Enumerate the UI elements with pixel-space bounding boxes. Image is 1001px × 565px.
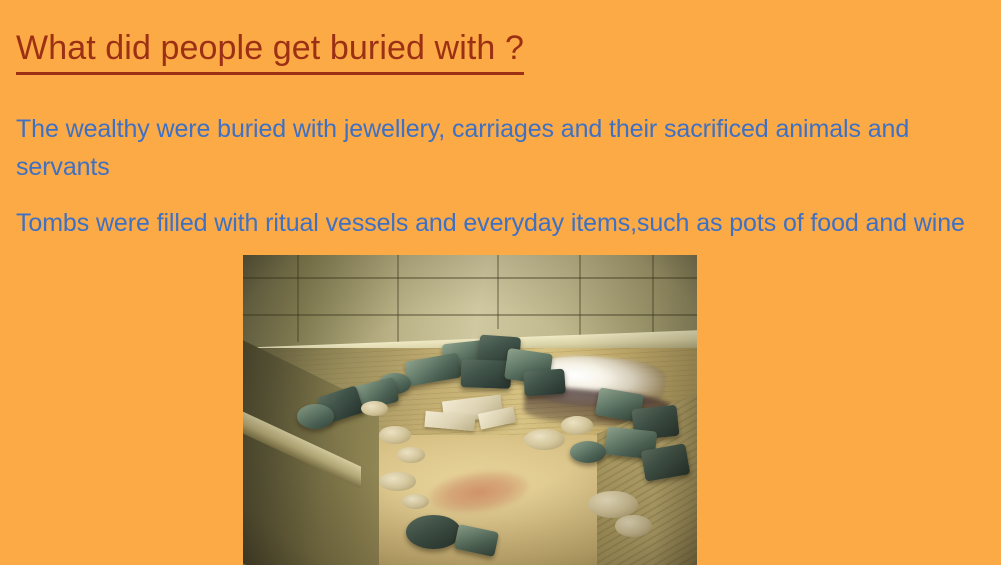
body-paragraph-1: The wealthy were buried with jewellery, … (16, 110, 1001, 186)
slide: What did people get buried with ? The we… (0, 0, 1001, 565)
photo-vignette (243, 255, 697, 565)
body-paragraph-2: Tombs were filled with ritual vessels an… (16, 204, 1001, 242)
tomb-excavation-photo (243, 255, 697, 565)
page-title: What did people get buried with ? (16, 27, 524, 75)
body-text-block: The wealthy were buried with jewellery, … (16, 110, 1001, 242)
